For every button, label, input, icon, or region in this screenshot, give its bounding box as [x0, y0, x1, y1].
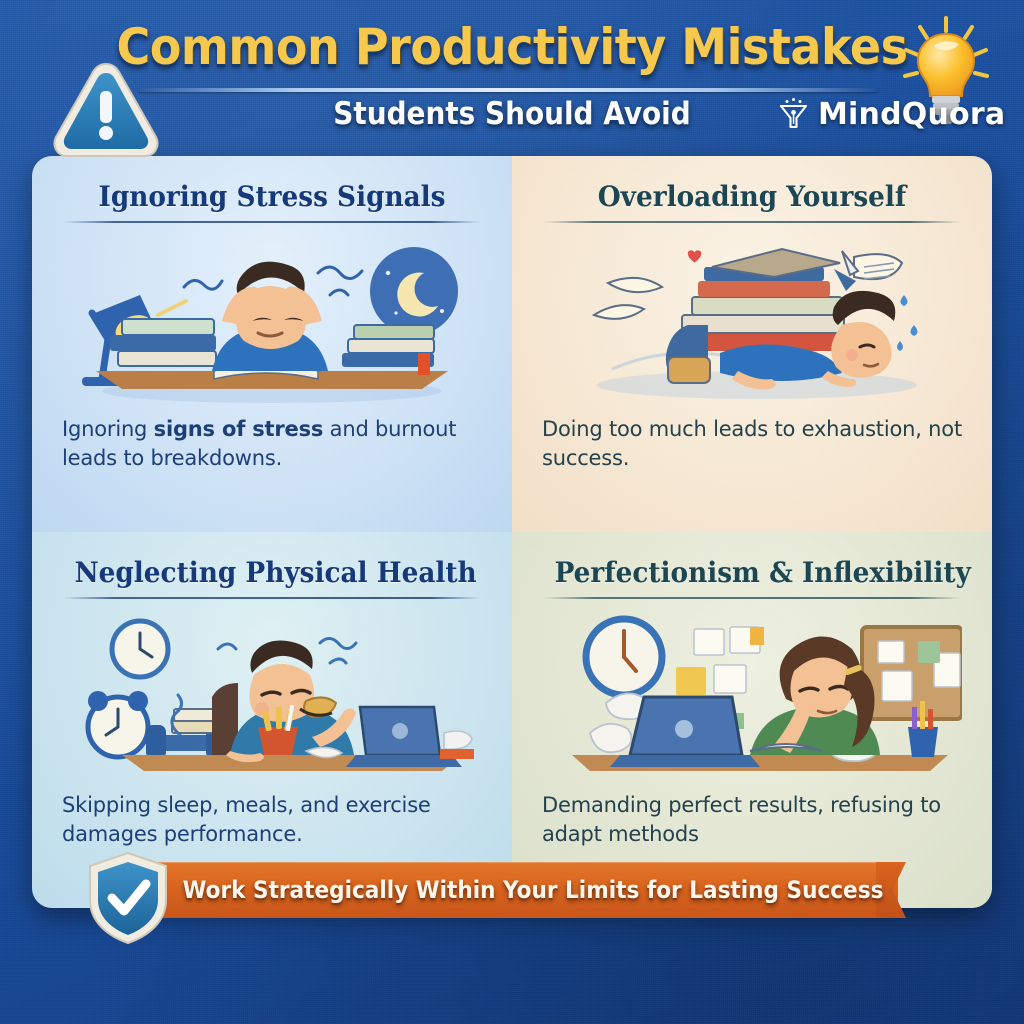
brand-lockup: MindQuora [778, 93, 1005, 135]
ribbon-text: Work Strategically Within Your Limits fo… [214, 862, 853, 918]
footer-ribbon-area: Work Strategically Within Your Limits fo… [0, 856, 1024, 936]
quadrant-body: Skipping sleep, meals, and exercise dama… [62, 791, 482, 848]
overloaded-student-illustration [542, 229, 962, 405]
page-title: Common Productivity Mistakes [41, 18, 983, 76]
quadrant-perfectionism-and-inflexibility[interactable]: Perfectionism & Inflexibility [512, 532, 992, 908]
title-divider [138, 88, 878, 92]
stress-student-illustration [62, 229, 482, 405]
quadrant-body: Ignoring signs of stress and burnout lea… [62, 415, 482, 472]
quadrant-overloading-yourself[interactable]: Overloading Yourself [512, 156, 992, 532]
poster-header: Common Productivity Mistakes Students Sh… [0, 0, 1024, 152]
mistakes-card: Ignoring Stress Signals [32, 156, 992, 908]
perfectionist-student-illustration [542, 605, 962, 781]
quadrant-heading: Ignoring Stress Signals [75, 182, 470, 211]
mistakes-grid: Ignoring Stress Signals [32, 156, 992, 908]
quadrant-heading: Neglecting Physical Health [75, 558, 470, 587]
brand-name: MindQuora [818, 97, 1005, 132]
heading-divider [544, 221, 960, 223]
quadrant-heading: Overloading Yourself [555, 182, 950, 211]
heading-divider [64, 597, 480, 599]
infographic-poster: Common Productivity Mistakes Students Sh… [0, 0, 1024, 1024]
quadrant-body: Demanding perfect results, refusing to a… [542, 791, 962, 848]
heading-divider [64, 221, 480, 223]
body-emphasis: signs of stress [154, 417, 324, 441]
quadrant-ignoring-stress-signals[interactable]: Ignoring Stress Signals [32, 156, 512, 532]
quadrant-body: Doing too much leads to exhaustion, not … [542, 415, 962, 472]
mindquora-funnel-mark-icon [778, 96, 809, 132]
heading-divider [544, 597, 960, 599]
unhealthy-student-illustration [62, 605, 482, 781]
shield-check-icon [86, 850, 170, 946]
body-part-1: Ignoring [62, 417, 154, 441]
quadrant-heading: Perfectionism & Inflexibility [555, 558, 950, 587]
